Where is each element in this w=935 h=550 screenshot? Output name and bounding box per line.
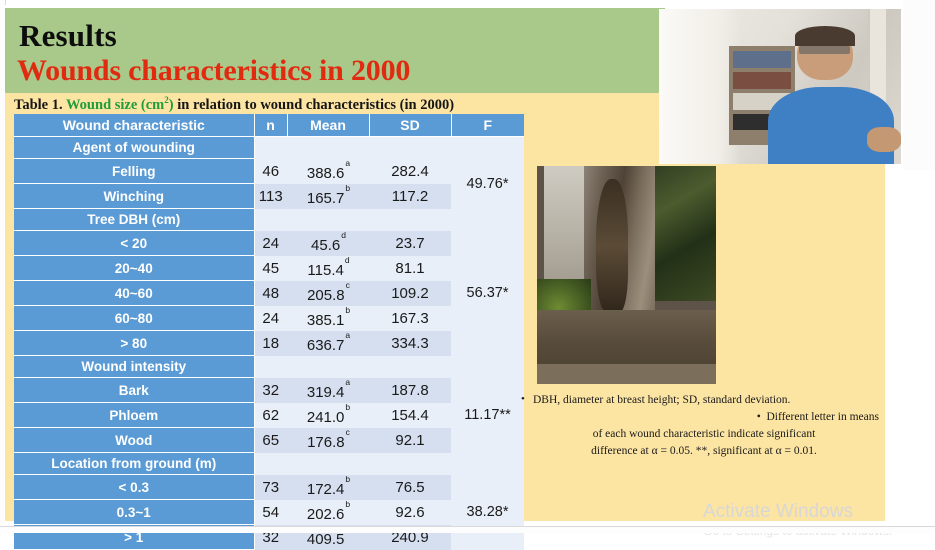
col-header-mean: Mean	[287, 114, 369, 137]
cell-f: 56.37*	[451, 231, 524, 356]
cell-sd	[369, 453, 451, 475]
table-row: 60~8024385.1b167.3	[14, 306, 524, 331]
table-row: 40~6048205.8c109.2	[14, 281, 524, 306]
cell-n: 73	[254, 475, 287, 500]
cell-f: 49.76*	[451, 159, 524, 209]
table-header-row: Wound characteristic n Mean SD F	[14, 114, 524, 137]
row-label: Winching	[14, 184, 254, 209]
cell-n: 113	[254, 184, 287, 209]
cell-mean-superscript: b	[345, 499, 350, 509]
table-row: Bark32319.4a187.811.17**	[14, 378, 524, 403]
row-label: Felling	[14, 159, 254, 184]
cell-sd: 187.8	[369, 378, 451, 403]
row-label: Wood	[14, 428, 254, 453]
caption-rest: in relation to wound characteristics (in…	[174, 97, 454, 113]
table-caption: Table 1. Wound size (cm2) in relation to…	[14, 95, 534, 114]
cell-mean: 165.7b	[287, 184, 369, 209]
top-right-white-margin	[903, 0, 935, 170]
results-table: Wound characteristic n Mean SD F Agent o…	[14, 114, 524, 550]
cell-f	[451, 137, 524, 159]
cell-mean: 241.0b	[287, 403, 369, 428]
webcam-book-2	[733, 72, 790, 89]
table-row: 0.3~154202.6b92.6	[14, 500, 524, 525]
footnote-line-3: of each wound characteristic indicate si…	[525, 426, 883, 443]
row-label: 60~80	[14, 306, 254, 331]
presenter-webcam-feed[interactable]	[659, 9, 901, 164]
photo-ground	[537, 364, 716, 384]
window-bottom-border	[0, 526, 935, 533]
cell-mean: 202.6b	[287, 500, 369, 525]
row-label: Phloem	[14, 403, 254, 428]
cell-sd: 109.2	[369, 281, 451, 306]
cell-mean-superscript: c	[346, 427, 350, 437]
col-header-wound-characteristic: Wound characteristic	[14, 114, 254, 137]
cell-mean	[287, 356, 369, 378]
cell-mean: 636.7a	[287, 331, 369, 356]
table-row: > 8018636.7a334.3	[14, 331, 524, 356]
webcam-presenter-hand	[867, 127, 901, 152]
cell-mean-superscript: b	[345, 402, 350, 412]
cell-n: 24	[254, 306, 287, 331]
cell-sd: 92.6	[369, 500, 451, 525]
cell-mean	[287, 209, 369, 231]
row-label: 0.3~1	[14, 500, 254, 525]
row-label: > 80	[14, 331, 254, 356]
cell-sd: 23.7	[369, 231, 451, 256]
cell-n: 24	[254, 231, 287, 256]
cell-mean: 115.4d	[287, 256, 369, 281]
activate-windows-watermark: Activate Windows	[703, 501, 853, 523]
wounded-tree-photo	[537, 166, 716, 384]
row-label: Wound intensity	[14, 356, 254, 378]
footnote-line-2: • Different letter in means	[525, 409, 883, 426]
table-footnote: DBH, diameter at breast height; SD, stan…	[525, 392, 883, 460]
cell-mean: 205.8c	[287, 281, 369, 306]
cell-n	[254, 453, 287, 475]
cell-sd	[369, 209, 451, 231]
cell-mean-superscript: d	[345, 255, 350, 265]
cell-mean-superscript: b	[345, 474, 350, 484]
caption-green-part: Wound size (cm2)	[66, 97, 174, 113]
cell-mean: 176.8c	[287, 428, 369, 453]
table-row: < 0.373172.4b76.538.28*	[14, 475, 524, 500]
footnote-line-2-text: Different letter in means	[766, 411, 879, 423]
cell-n: 45	[254, 256, 287, 281]
cell-mean: 388.6a	[287, 159, 369, 184]
table-row: Wood65176.8c92.1	[14, 428, 524, 453]
cell-mean: 385.1b	[287, 306, 369, 331]
table-row: 20~4045115.4d81.1	[14, 256, 524, 281]
cell-mean	[287, 137, 369, 159]
table-group-row: Wound intensity	[14, 356, 524, 378]
cell-n: 62	[254, 403, 287, 428]
cell-sd: 81.1	[369, 256, 451, 281]
row-label: < 20	[14, 231, 254, 256]
cell-n: 18	[254, 331, 287, 356]
cell-n	[254, 356, 287, 378]
cell-n	[254, 137, 287, 159]
table-body: Agent of woundingFelling46388.6a282.449.…	[14, 137, 524, 550]
cell-f	[451, 453, 524, 475]
webcam-presenter-torso	[768, 87, 894, 165]
cell-mean	[287, 453, 369, 475]
cell-f	[451, 356, 524, 378]
cell-sd: 76.5	[369, 475, 451, 500]
webcam-presenter-glasses	[799, 46, 850, 54]
cell-sd	[369, 356, 451, 378]
footnote-line-4: difference at α = 0.05. **, significant …	[525, 443, 883, 460]
cell-mean-superscript: d	[341, 230, 346, 240]
row-label: Location from ground (m)	[14, 453, 254, 475]
col-header-n: n	[254, 114, 287, 137]
cell-f	[451, 209, 524, 231]
cell-mean-superscript: a	[345, 330, 350, 340]
table-group-row: Agent of wounding	[14, 137, 524, 159]
table-row: Winching113165.7b117.2	[14, 184, 524, 209]
cell-sd: 167.3	[369, 306, 451, 331]
cell-mean: 45.6d	[287, 231, 369, 256]
cell-n: 46	[254, 159, 287, 184]
caption-green-text: Wound size (cm	[66, 97, 164, 113]
cell-n: 65	[254, 428, 287, 453]
cell-n	[254, 209, 287, 231]
cell-mean: 172.4b	[287, 475, 369, 500]
footnote-line-1: DBH, diameter at breast height; SD, stan…	[525, 392, 883, 409]
results-table-wrapper: Wound characteristic n Mean SD F Agent o…	[14, 114, 524, 550]
cell-sd	[369, 137, 451, 159]
page-subtitle: Wounds characteristics in 2000	[17, 54, 410, 88]
row-label: 40~60	[14, 281, 254, 306]
cell-sd: 154.4	[369, 403, 451, 428]
cell-n: 48	[254, 281, 287, 306]
cell-mean-superscript: b	[345, 305, 350, 315]
slide-stage: Results Wounds characteristics in 2000 T…	[0, 0, 935, 533]
caption-prefix: Table 1.	[14, 97, 66, 113]
cell-mean-superscript: a	[345, 158, 350, 168]
cell-sd: 334.3	[369, 331, 451, 356]
cell-mean-superscript: b	[345, 183, 350, 193]
cell-n: 54	[254, 500, 287, 525]
cell-mean-superscript: c	[346, 280, 350, 290]
table-group-row: Tree DBH (cm)	[14, 209, 524, 231]
cell-n: 32	[254, 378, 287, 403]
row-label: Bark	[14, 378, 254, 403]
page-title: Results	[19, 18, 117, 54]
webcam-book-1	[733, 51, 790, 68]
row-label: Tree DBH (cm)	[14, 209, 254, 231]
photo-wound-gash	[596, 179, 628, 314]
table-row: < 202445.6d23.756.37*	[14, 231, 524, 256]
row-label: Agent of wounding	[14, 137, 254, 159]
row-label: 20~40	[14, 256, 254, 281]
cell-mean-superscript: a	[345, 377, 350, 387]
col-header-f: F	[451, 114, 524, 137]
photo-foliage	[648, 166, 716, 301]
table-group-row: Location from ground (m)	[14, 453, 524, 475]
cell-sd: 282.4	[369, 159, 451, 184]
table-row: Phloem62241.0b154.4	[14, 403, 524, 428]
row-label: < 0.3	[14, 475, 254, 500]
cell-sd: 92.1	[369, 428, 451, 453]
cell-f: 11.17**	[451, 378, 524, 453]
table-row: Felling46388.6a282.449.76*	[14, 159, 524, 184]
cell-sd: 117.2	[369, 184, 451, 209]
cell-f: 38.28*	[451, 475, 524, 550]
cell-mean: 319.4a	[287, 378, 369, 403]
webcam-presenter-hair	[795, 26, 856, 46]
col-header-sd: SD	[369, 114, 451, 137]
